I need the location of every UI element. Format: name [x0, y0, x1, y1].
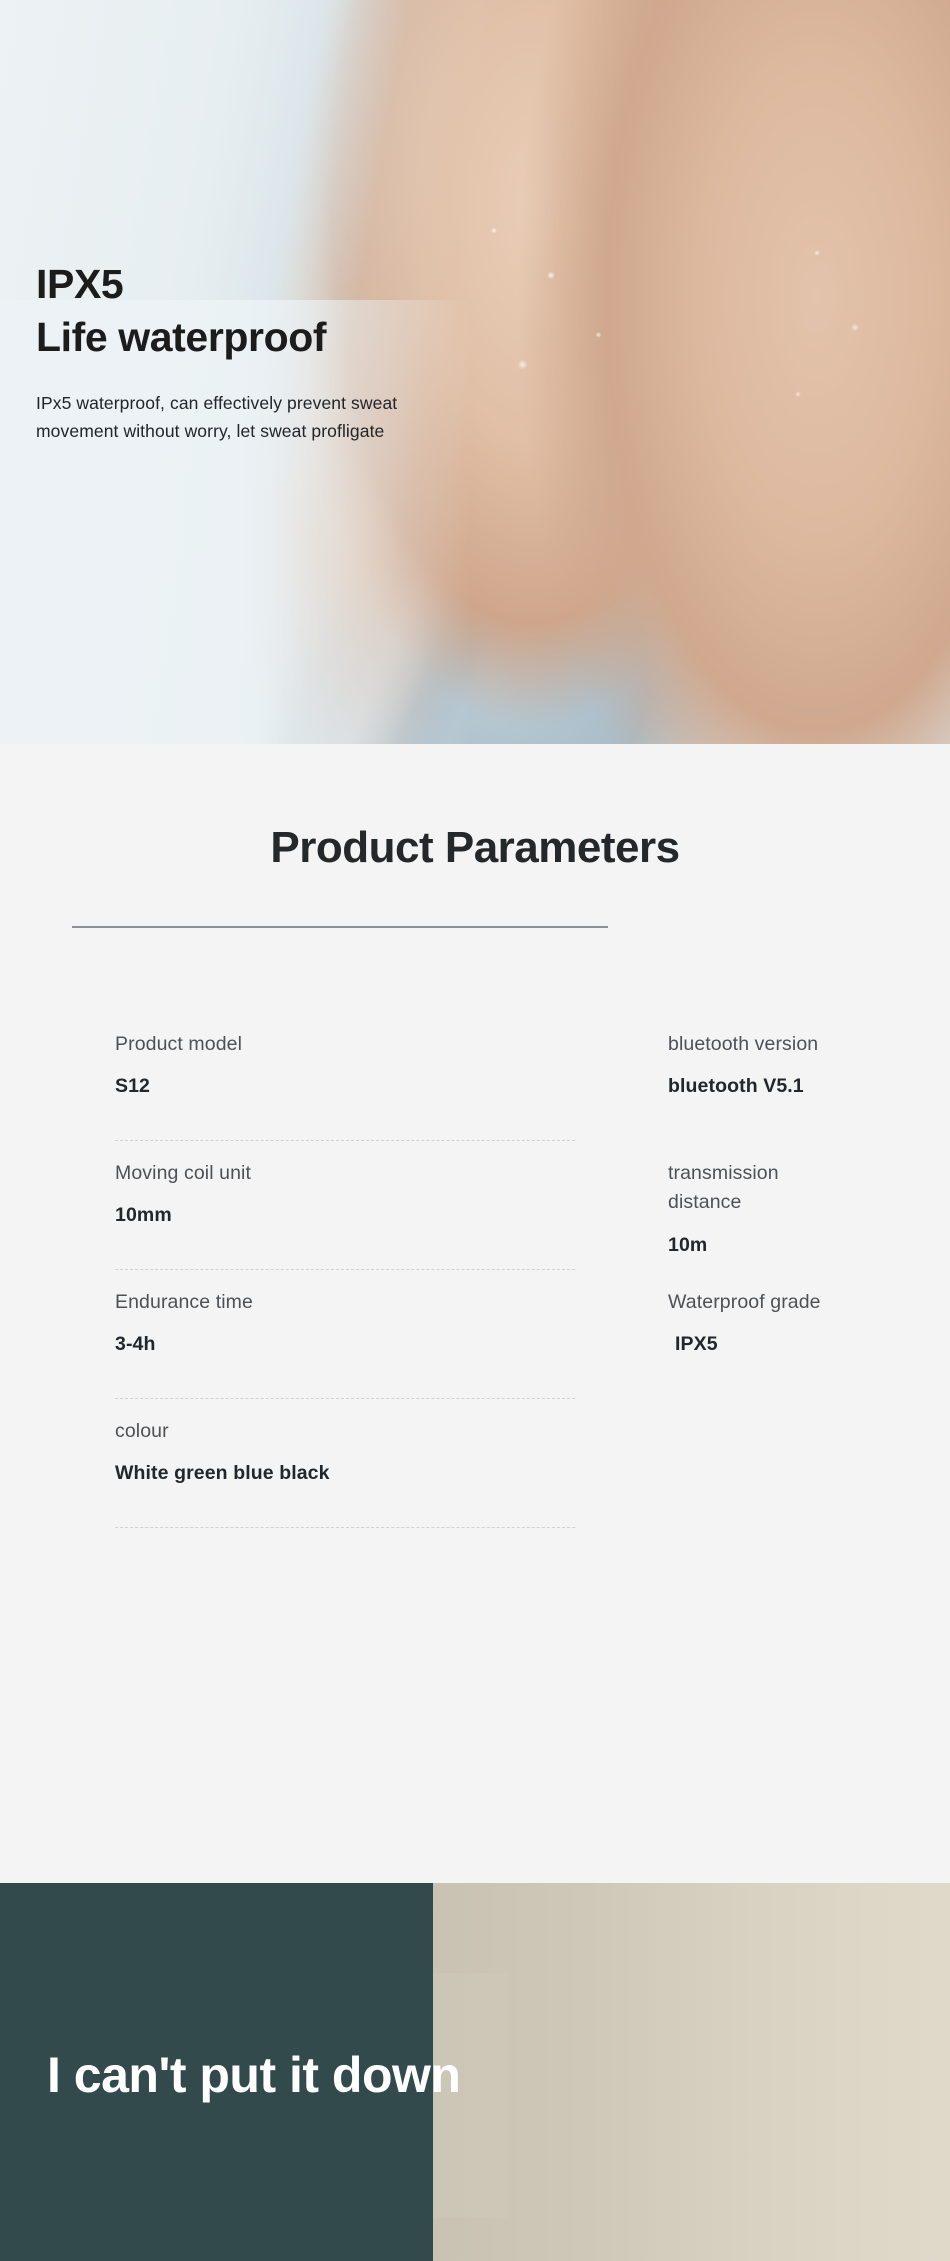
product-parameters-section: Product Parameters Product model S12 blu…: [0, 744, 950, 1883]
param-value: bluetooth V5.1: [668, 1072, 845, 1101]
param-label: Endurance time: [115, 1288, 480, 1317]
param-value: 3-4h: [115, 1330, 480, 1359]
param-cell-moving-coil-unit: Moving coil unit 10mm: [115, 1159, 480, 1260]
param-cell-product-model: Product model S12: [115, 1030, 480, 1102]
parameters-heading-rule: [72, 926, 608, 928]
param-label: Product model: [115, 1030, 480, 1059]
param-cell-transmission-distance: transmission distance 10m: [480, 1159, 845, 1260]
hero-section: IPX5 Life waterproof IPx5 waterproof, ca…: [0, 0, 950, 744]
param-label: Waterproof grade: [668, 1288, 845, 1317]
hero-title-line-2: Life waterproof: [36, 311, 456, 364]
table-row: Moving coil unit 10mm transmission dista…: [115, 1141, 845, 1270]
param-value: 10mm: [115, 1201, 480, 1230]
hero-title: IPX5 Life waterproof: [36, 258, 456, 365]
param-cell-empty: [480, 1417, 845, 1489]
hero-description: IPx5 waterproof, can effectively prevent…: [36, 389, 456, 446]
param-cell-waterproof-grade: Waterproof grade IPX5: [480, 1288, 845, 1360]
param-value: IPX5: [668, 1330, 845, 1359]
hero-title-line-1: IPX5: [36, 261, 123, 307]
row-divider: [115, 1527, 575, 1528]
param-value: S12: [115, 1072, 480, 1101]
table-row: colour White green blue black: [115, 1399, 845, 1528]
param-value: 10m: [668, 1231, 845, 1260]
bottom-banner-section: I can't put it down: [0, 1883, 950, 2261]
param-value: White green blue black: [115, 1459, 480, 1488]
table-row: Endurance time 3-4h Waterproof grade IPX…: [115, 1270, 845, 1399]
parameters-heading: Product Parameters: [0, 823, 950, 873]
param-label: transmission distance: [668, 1159, 845, 1218]
banner-headline: I can't put it down: [47, 2045, 517, 2106]
param-label: bluetooth version: [668, 1030, 845, 1059]
param-label: Moving coil unit: [115, 1159, 480, 1188]
param-cell-endurance-time: Endurance time 3-4h: [115, 1288, 480, 1360]
product-detail-page: IPX5 Life waterproof IPx5 waterproof, ca…: [0, 0, 950, 2261]
param-cell-bluetooth-version: bluetooth version bluetooth V5.1: [480, 1030, 845, 1102]
table-row: Product model S12 bluetooth version blue…: [115, 1012, 845, 1141]
parameters-table: Product model S12 bluetooth version blue…: [115, 1012, 845, 1528]
hero-copy: IPX5 Life waterproof IPx5 waterproof, ca…: [36, 258, 456, 446]
param-cell-colour: colour White green blue black: [115, 1417, 480, 1489]
param-label: colour: [115, 1417, 480, 1446]
